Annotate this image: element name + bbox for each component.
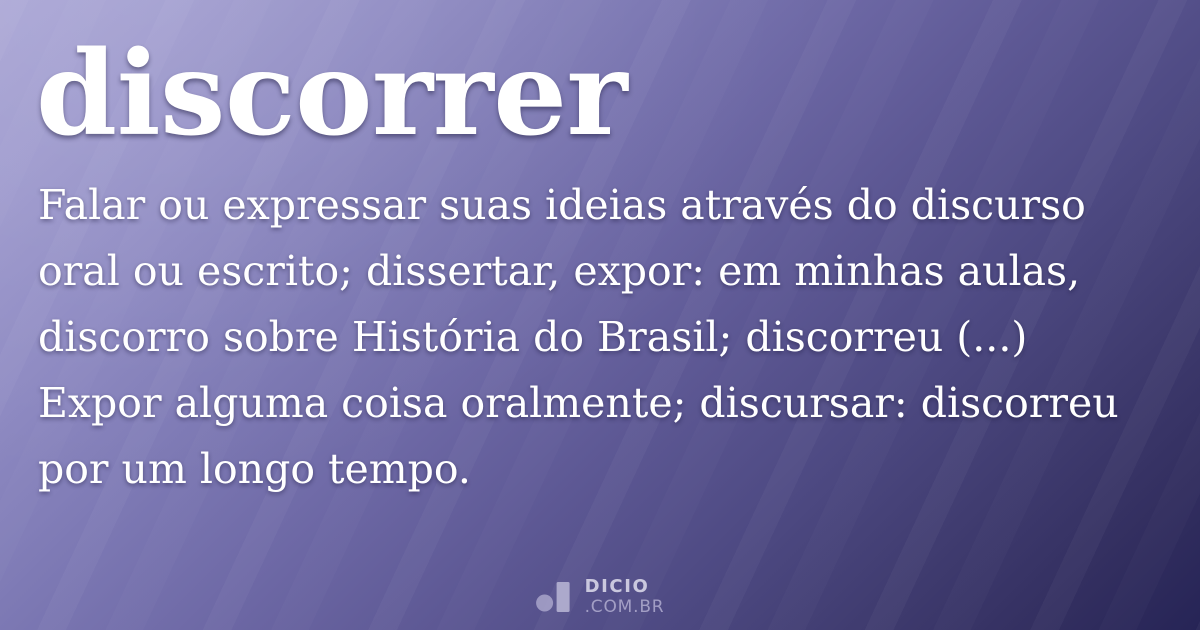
definition-list: Falar ou expressar suas ideias através d… — [38, 172, 1166, 502]
logo-name: DICIO — [585, 578, 665, 596]
dicio-logo-mark-icon — [536, 582, 572, 612]
logo-tld: .COM.BR — [585, 599, 665, 616]
dicio-logo[interactable]: DICIO .COM.BR — [536, 578, 665, 616]
definition-item: Expor alguma coisa oralmente; discursar:… — [38, 370, 1166, 502]
card-content: discorrer Falar ou expressar suas ideias… — [0, 0, 1200, 630]
page-title: discorrer — [36, 36, 627, 152]
logo-wordmark: DICIO .COM.BR — [585, 578, 665, 616]
dictionary-definition-card: discorrer Falar ou expressar suas ideias… — [0, 0, 1200, 630]
definition-item: Falar ou expressar suas ideias através d… — [38, 172, 1166, 370]
